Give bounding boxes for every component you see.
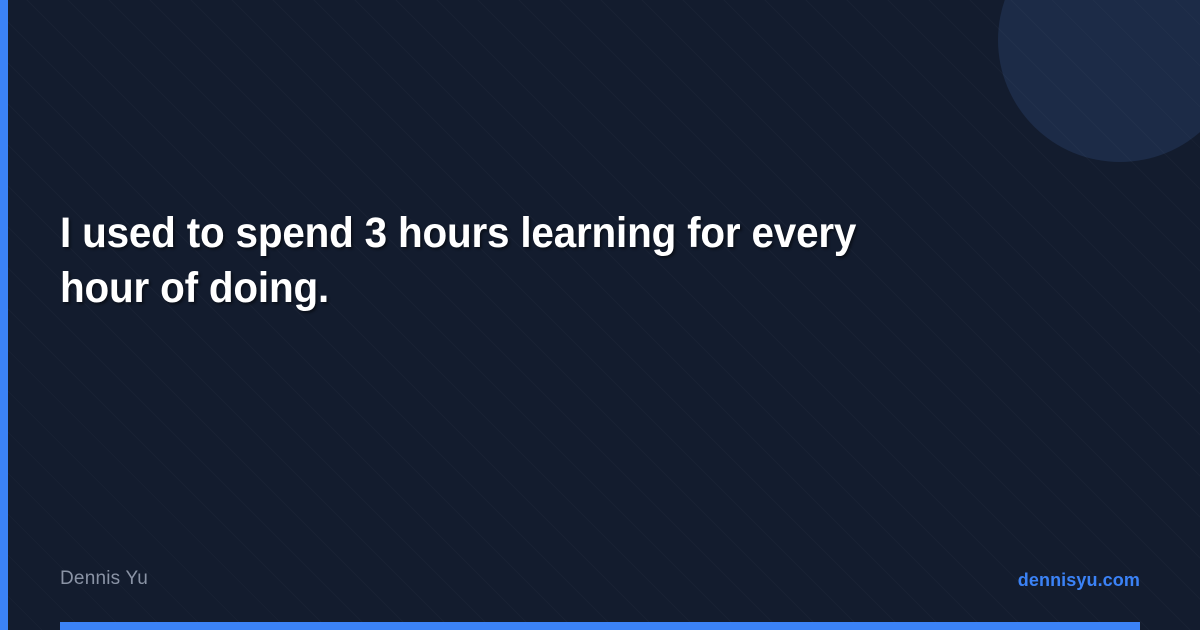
quote-card: I used to spend 3 hours learning for eve… — [0, 0, 1200, 630]
website-link[interactable]: dennisyu.com — [1018, 570, 1140, 591]
card-content: I used to spend 3 hours learning for eve… — [0, 0, 1200, 630]
author-attribution: Dennis Yu — [60, 568, 148, 590]
quote-headline: I used to spend 3 hours learning for eve… — [60, 206, 906, 316]
